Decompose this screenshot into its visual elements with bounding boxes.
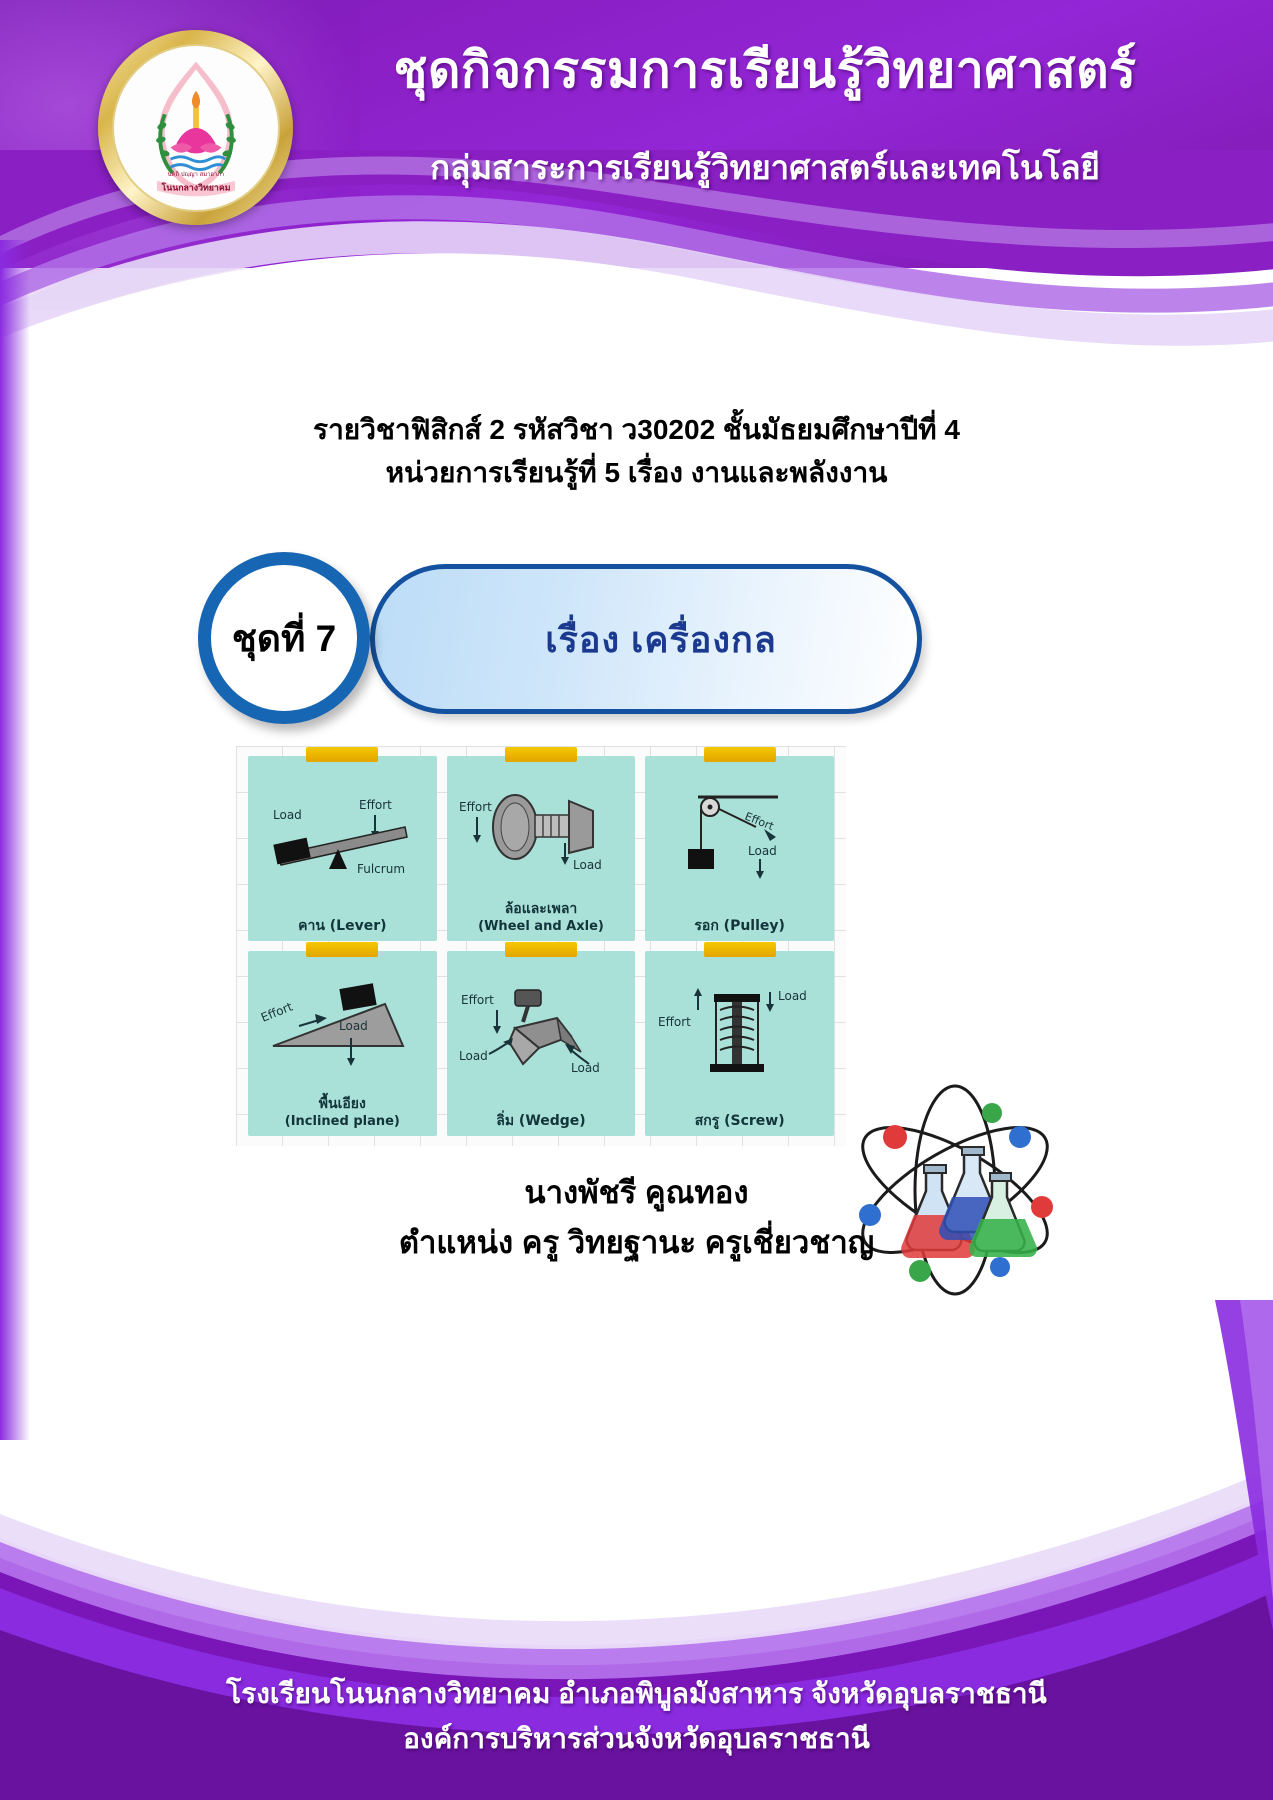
svg-text:โนนกลางวิทยาคม: โนนกลางวิทยาคม — [160, 181, 230, 193]
diagram-cell-pulley: Effort Load รอก (Pulley) — [645, 756, 834, 941]
svg-text:Load: Load — [339, 1019, 368, 1033]
svg-text:Effort: Effort — [259, 999, 295, 1024]
cell-tab-icon — [704, 747, 776, 762]
author-info: นางพัชรี คูณทอง ตำแหน่ง ครู วิทยฐานะ ครู… — [0, 1168, 1273, 1267]
pulley-icon: Effort Load — [645, 756, 834, 916]
svg-text:Effort: Effort — [743, 809, 776, 833]
wheel-and-axle-icon: Effort Load — [447, 756, 636, 899]
set-number-label: ชุดที่ 7 — [232, 609, 336, 668]
top-banner: โนนกลางวิทยาคม นตฺถิ ปญฺญา สมาอาภา ชุดกิ… — [0, 0, 1273, 390]
svg-text:Fulcrum: Fulcrum — [357, 862, 405, 876]
svg-text:Load: Load — [459, 1049, 488, 1063]
diagram-cell-lever: Load Effort Fulcrum คาน (Lever) — [248, 756, 437, 941]
diagram-caption: รอก (Pulley) — [692, 916, 787, 942]
cell-tab-icon — [505, 747, 577, 762]
diagram-cell-screw: Effort Load — [645, 951, 834, 1136]
svg-text:Load: Load — [778, 989, 807, 1003]
author-position: ตำแหน่ง ครู วิทยฐานะ ครูเชี่ยวชาญ — [0, 1218, 1273, 1268]
inclined-plane-icon: Effort Load — [248, 951, 437, 1094]
seal-emblem-icon: โนนกลางวิทยาคม นตฺถิ ปญฺญา สมาอาภา — [112, 44, 280, 212]
diagram-cell-wedge: Effort Load Load — [447, 951, 636, 1136]
footer-org-line: องค์การบริหารส่วนจังหวัดอุบลราชธานี — [0, 1717, 1273, 1762]
set-title-zone: เรื่อง เครื่องกล ชุดที่ 7 — [0, 552, 1273, 727]
school-seal: โนนกลางวิทยาคม นตฺถิ ปญฺญา สมาอาภา — [98, 30, 293, 225]
cell-tab-icon — [306, 942, 378, 957]
svg-text:Effort: Effort — [459, 800, 492, 814]
footer-text: โรงเรียนโนนกลางวิทยาคม อำเภอพิบูลมังสาหา… — [0, 1672, 1273, 1762]
course-subject-line: รายวิชาฟิสิกส์ 2 รหัสวิชา ว30202 ชั้นมัธ… — [0, 408, 1273, 451]
diagram-cell-inclined-plane: Effort Load พื้นเอียง (Inclined plane) — [248, 951, 437, 1136]
author-name: นางพัชรี คูณทอง — [0, 1168, 1273, 1218]
svg-text:นตฺถิ ปญฺญา สมาอาภา: นตฺถิ ปญฺญา สมาอาภา — [167, 170, 224, 177]
svg-text:Effort: Effort — [658, 1015, 691, 1029]
diagram-caption: ล้อและเพลา (Wheel and Axle) — [476, 899, 606, 941]
set-title-label: เรื่อง เครื่องกล — [545, 611, 777, 668]
caption-thai: ลิ่ม (Wedge) — [496, 1113, 585, 1131]
caption-thai: ล้อและเพลา — [478, 901, 604, 919]
footer-school-line: โรงเรียนโนนกลางวิทยาคม อำเภอพิบูลมังสาหา… — [0, 1672, 1273, 1717]
caption-english: (Wheel and Axle) — [478, 919, 604, 935]
caption-thai: พื้นเอียง — [285, 1096, 400, 1114]
cell-tab-icon — [306, 747, 378, 762]
caption-thai: คาน (Lever) — [298, 918, 386, 936]
set-number-badge: ชุดที่ 7 — [198, 552, 370, 724]
caption-thai: สกรู (Screw) — [695, 1113, 785, 1131]
lever-icon: Load Effort Fulcrum — [248, 756, 437, 916]
svg-text:Effort: Effort — [461, 993, 494, 1007]
wedge-icon: Effort Load Load — [447, 951, 636, 1111]
svg-text:Effort: Effort — [359, 798, 392, 812]
diagram-cell-wheel-and-axle: Effort Load — [447, 756, 636, 941]
document-page: โนนกลางวิทยาคม นตฺถิ ปญฺญา สมาอาภา ชุดกิ… — [0, 0, 1273, 1800]
diagram-caption: คาน (Lever) — [296, 916, 388, 942]
svg-text:Load: Load — [748, 844, 777, 858]
simple-machines-diagram: Load Effort Fulcrum คาน (Lever) — [236, 746, 846, 1146]
set-title-bar: เรื่อง เครื่องกล — [370, 564, 922, 714]
course-unit-line: หน่วยการเรียนรู้ที่ 5 เรื่อง งานและพลังง… — [0, 451, 1273, 494]
cell-tab-icon — [505, 942, 577, 957]
diagram-caption: พื้นเอียง (Inclined plane) — [283, 1094, 402, 1136]
caption-thai: รอก (Pulley) — [694, 918, 785, 936]
diagram-caption: สกรู (Screw) — [693, 1111, 787, 1137]
course-info: รายวิชาฟิสิกส์ 2 รหัสวิชา ว30202 ชั้นมัธ… — [0, 408, 1273, 495]
svg-text:Load: Load — [571, 1061, 600, 1075]
diagram-caption: ลิ่ม (Wedge) — [494, 1111, 587, 1137]
svg-text:Load: Load — [573, 858, 602, 872]
svg-text:Load: Load — [273, 808, 302, 822]
screw-icon: Effort Load — [645, 951, 834, 1111]
page-subtitle: กลุ่มสาระการเรียนรู้วิทยาศาสตร์และเทคโนโ… — [300, 148, 1230, 188]
page-title: ชุดกิจกรรมการเรียนรู้วิทยาศาสตร์ — [300, 42, 1230, 98]
caption-english: (Inclined plane) — [285, 1114, 400, 1130]
cell-tab-icon — [704, 942, 776, 957]
footer-banner: โรงเรียนโนนกลางวิทยาคม อำเภอพิบูลมังสาหา… — [0, 1300, 1273, 1800]
